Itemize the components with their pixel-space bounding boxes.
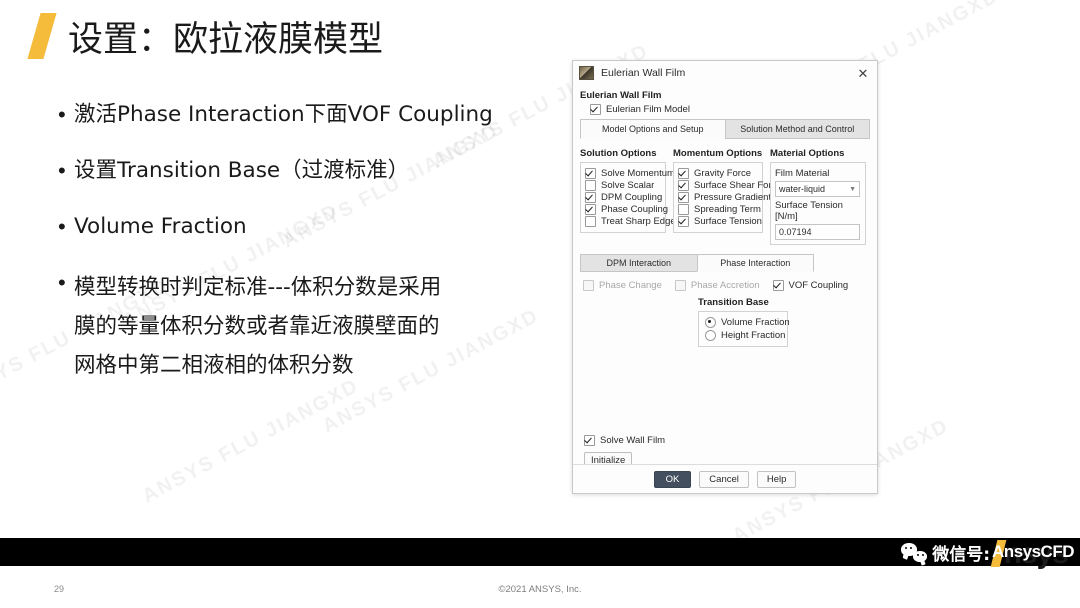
radio-volume-fraction[interactable]: Volume Fraction xyxy=(705,317,781,328)
checkbox-label: Treat Sharp Edge xyxy=(601,216,676,227)
list-item: • Volume Fraction xyxy=(58,212,568,242)
checkbox-icon[interactable] xyxy=(585,192,596,203)
checkbox-icon xyxy=(583,280,594,291)
checkbox-icon[interactable] xyxy=(584,435,595,446)
radio-icon[interactable] xyxy=(705,317,716,328)
group-title: Momentum Options xyxy=(673,148,763,159)
bullet-dot-icon: • xyxy=(58,156,74,186)
watermark-text: ANSYS FLU JIANGXD xyxy=(139,375,363,509)
slide-root: ANSYS FLU JIANGXD ANSYS FLU JIANGXD ANSY… xyxy=(0,0,1080,608)
wechat-icon xyxy=(901,542,927,562)
checkbox-icon[interactable] xyxy=(678,216,689,227)
checkbox-label: Eulerian Film Model xyxy=(606,104,690,115)
list-item: • 激活Phase Interaction下面VOF Coupling xyxy=(58,100,568,130)
bullet-dot-icon: • xyxy=(58,268,74,298)
wechat-label: 微信号: xyxy=(932,540,990,565)
transition-base-group: Transition Base Volume Fraction Height F… xyxy=(698,297,870,347)
checkbox-solve-wall-film[interactable]: Solve Wall Film xyxy=(584,435,870,446)
solution-options-group: Solution Options Solve Momentum Solve Sc… xyxy=(580,146,666,245)
list-item: • 设置Transition Base（过渡标准） xyxy=(58,156,568,186)
surface-tension-input[interactable]: 0.07194 xyxy=(775,224,860,240)
momentum-options-box: Gravity Force Surface Shear Force Pressu… xyxy=(673,162,763,233)
help-button[interactable]: Help xyxy=(757,471,797,488)
bullet-line: 模型转换时判定标准---体积分数是采用 xyxy=(74,275,441,300)
checkbox-label: Phase Accretion xyxy=(691,280,760,291)
checkbox-vof-coupling[interactable]: VOF Coupling xyxy=(773,280,849,291)
eulerian-wall-film-dialog: Eulerian Wall Film ✕ Eulerian Wall Film … xyxy=(572,60,878,494)
checkbox-label: Solve Momentum xyxy=(601,168,675,179)
checkbox-phase-change: Phase Change xyxy=(583,280,662,291)
checkbox-solve-momentum[interactable]: Solve Momentum xyxy=(585,168,660,179)
tab-solution-method-and-control[interactable]: Solution Method and Control xyxy=(725,119,871,139)
tab-dpm-interaction[interactable]: DPM Interaction xyxy=(580,254,697,272)
checkbox-icon[interactable] xyxy=(678,192,689,203)
checkbox-icon[interactable] xyxy=(585,204,596,215)
tab-model-options-and-setup[interactable]: Model Options and Setup xyxy=(580,119,725,139)
title-text: 设置：欧拉液膜模型 xyxy=(68,11,383,62)
interaction-tab-row: DPM Interaction Phase Interaction xyxy=(580,254,814,272)
radio-label: Volume Fraction xyxy=(721,317,790,328)
dialog-body: Eulerian Wall Film Eulerian Film Model M… xyxy=(573,85,877,469)
checkbox-solve-scalar[interactable]: Solve Scalar xyxy=(585,180,660,191)
checkbox-icon[interactable] xyxy=(678,168,689,179)
dialog-titlebar[interactable]: Eulerian Wall Film ✕ xyxy=(573,61,877,85)
bullet-dot-icon: • xyxy=(58,212,74,242)
bullet-text: 激活Phase Interaction下面VOF Coupling xyxy=(74,100,493,130)
bullet-text: Volume Fraction xyxy=(74,212,247,242)
surface-tension-value: 0.07194 xyxy=(779,227,812,237)
checkbox-icon[interactable] xyxy=(773,280,784,291)
checkbox-label: DPM Coupling xyxy=(601,192,662,203)
radio-icon[interactable] xyxy=(705,330,716,341)
checkbox-surface-tension[interactable]: Surface Tension xyxy=(678,216,757,227)
film-material-value: water-liquid xyxy=(779,184,849,194)
bullet-line: 网格中第二相液相的体积分数 xyxy=(74,353,354,378)
chevron-down-icon[interactable]: ▼ xyxy=(849,186,856,193)
bullet-text-multiline: 模型转换时判定标准---体积分数是采用 膜的等量体积分数或者靠近液膜壁面的 网格… xyxy=(74,268,441,385)
checkbox-label: Phase Change xyxy=(599,280,662,291)
checkbox-phase-coupling[interactable]: Phase Coupling xyxy=(585,204,660,215)
checkbox-icon xyxy=(675,280,686,291)
radio-height-fraction[interactable]: Height Fraction xyxy=(705,330,781,341)
radio-label: Height Fraction xyxy=(721,330,785,341)
dialog-title: Eulerian Wall Film xyxy=(601,67,855,79)
checkbox-label: Spreading Term xyxy=(694,204,761,215)
material-options-group: Material Options Film Material water-liq… xyxy=(770,146,866,245)
ok-button[interactable]: OK xyxy=(654,471,692,488)
checkbox-label: Pressure Gradient xyxy=(694,192,771,203)
checkbox-icon[interactable] xyxy=(678,204,689,215)
checkbox-gravity-force[interactable]: Gravity Force xyxy=(678,168,757,179)
group-title: Solution Options xyxy=(580,148,666,159)
checkbox-icon[interactable] xyxy=(585,168,596,179)
bullet-text: 设置Transition Base（过渡标准） xyxy=(74,156,409,186)
checkbox-label: Phase Coupling xyxy=(601,204,668,215)
bullet-dot-icon: • xyxy=(58,100,74,130)
checkbox-icon[interactable] xyxy=(678,180,689,191)
tab-pane-model-options: Solution Options Solve Momentum Solve Sc… xyxy=(580,139,870,469)
checkbox-spreading-term[interactable]: Spreading Term xyxy=(678,204,757,215)
section-label: Eulerian Wall Film xyxy=(580,90,870,101)
list-item: • 模型转换时判定标准---体积分数是采用 膜的等量体积分数或者靠近液膜壁面的 … xyxy=(58,268,568,385)
cancel-button[interactable]: Cancel xyxy=(699,471,749,488)
title-accent-slash-icon xyxy=(27,13,56,59)
close-icon[interactable]: ✕ xyxy=(855,65,871,81)
checkbox-phase-accretion: Phase Accretion xyxy=(675,280,760,291)
checkbox-label: Gravity Force xyxy=(694,168,751,179)
bullet-list: • 激活Phase Interaction下面VOF Coupling • 设置… xyxy=(58,100,568,385)
wechat-watermark: 微信号: AnsysCFD xyxy=(901,538,1074,566)
page-title: 设置：欧拉液膜模型 xyxy=(30,6,383,66)
checkbox-label: Solve Scalar xyxy=(601,180,654,191)
film-material-label: Film Material xyxy=(775,168,860,179)
transition-base-box: Volume Fraction Height Fraction xyxy=(698,311,788,347)
phase-interaction-row: Phase Change Phase Accretion VOF Couplin… xyxy=(583,279,870,292)
checkbox-dpm-coupling[interactable]: DPM Coupling xyxy=(585,192,660,203)
main-tab-row: Model Options and Setup Solution Method … xyxy=(580,119,870,139)
checkbox-label: Solve Wall Film xyxy=(600,435,665,446)
surface-tension-label: Surface Tension [N/m] xyxy=(775,200,860,222)
checkbox-pressure-gradient[interactable]: Pressure Gradient xyxy=(678,192,757,203)
checkbox-label: VOF Coupling xyxy=(789,280,849,291)
checkbox-eulerian-film-model[interactable]: Eulerian Film Model xyxy=(590,104,870,115)
momentum-options-group: Momentum Options Gravity Force Surface S… xyxy=(673,146,763,245)
solution-options-box: Solve Momentum Solve Scalar DPM Coupling xyxy=(580,162,666,233)
material-options-box: Film Material water-liquid ▼ Surface Ten… xyxy=(770,162,866,245)
checkbox-icon[interactable] xyxy=(585,180,596,191)
group-title: Material Options xyxy=(770,148,866,159)
pane-spacer xyxy=(580,347,870,435)
options-columns: Solution Options Solve Momentum Solve Sc… xyxy=(580,146,870,245)
dialog-footer: OK Cancel Help xyxy=(573,464,877,493)
app-icon xyxy=(579,66,594,80)
checkbox-label: Surface Shear Force xyxy=(694,180,782,191)
group-title: Transition Base xyxy=(698,297,870,308)
checkbox-surface-shear-force[interactable]: Surface Shear Force xyxy=(678,180,757,191)
copyright-text: ©2021 ANSYS, Inc. xyxy=(0,584,1080,595)
film-material-select[interactable]: water-liquid ▼ xyxy=(775,181,860,197)
checkbox-icon[interactable] xyxy=(590,104,601,115)
wechat-id: AnsysCFD xyxy=(992,542,1074,562)
tab-phase-interaction[interactable]: Phase Interaction xyxy=(697,254,815,272)
checkbox-treat-sharp-edge[interactable]: Treat Sharp Edge xyxy=(585,216,660,227)
checkbox-label: Surface Tension xyxy=(694,216,762,227)
checkbox-icon[interactable] xyxy=(585,216,596,227)
bullet-line: 膜的等量体积分数或者靠近液膜壁面的 xyxy=(74,314,440,339)
